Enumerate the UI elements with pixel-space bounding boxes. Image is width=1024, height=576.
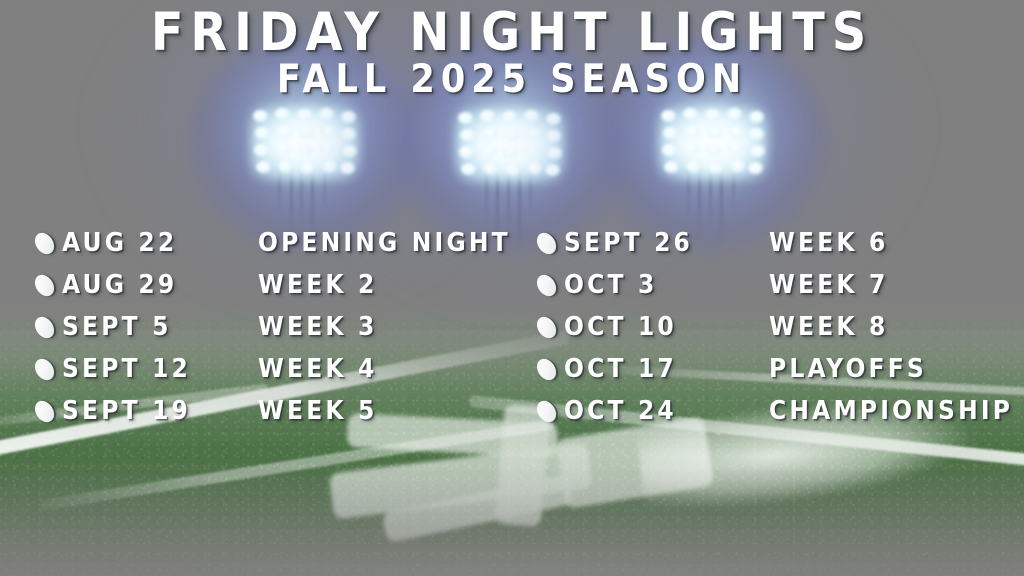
football-icon xyxy=(533,355,560,384)
football-icon xyxy=(533,271,560,300)
football-icon xyxy=(31,271,58,300)
schedule-row[interactable]: SEPT 19 WEEK 5 xyxy=(36,390,511,432)
football-icon xyxy=(31,229,58,258)
schedule-column-left: AUG 22 OPENING NIGHT AUG 29 WEEK 2 SEPT … xyxy=(36,222,511,432)
schedule-label: WEEK 6 xyxy=(769,230,889,256)
schedule-date: AUG 22 xyxy=(62,230,258,256)
schedule-row[interactable]: OCT 24 CHAMPIONSHIP xyxy=(538,390,1013,432)
football-icon xyxy=(533,397,560,426)
schedule-label: WEEK 3 xyxy=(258,314,378,340)
schedule-label: WEEK 5 xyxy=(258,398,378,424)
friday-night-lights-poster: FRIDAY NIGHT LIGHTS FALL 2025 SEASON AUG… xyxy=(0,0,1024,576)
schedule-label: WEEK 7 xyxy=(769,272,889,298)
schedule-row[interactable]: AUG 22 OPENING NIGHT xyxy=(36,222,511,264)
schedule-date: SEPT 19 xyxy=(62,398,258,424)
schedule-date: OCT 10 xyxy=(564,314,769,340)
football-icon xyxy=(31,397,58,426)
schedule-row[interactable]: OCT 17 PLAYOFFS xyxy=(538,348,1013,390)
schedule-date: SEPT 5 xyxy=(62,314,258,340)
bottom-fade xyxy=(0,456,1024,576)
schedule-date: AUG 29 xyxy=(62,272,258,298)
light-bulb-array xyxy=(661,108,765,178)
football-icon xyxy=(31,355,58,384)
schedule-date: SEPT 12 xyxy=(62,356,258,382)
schedule-date: SEPT 26 xyxy=(564,230,769,256)
schedule-row[interactable]: OCT 10 WEEK 8 xyxy=(538,306,1013,348)
schedule-label: WEEK 2 xyxy=(258,272,378,298)
schedule-label: WEEK 4 xyxy=(258,356,378,382)
schedule-date: OCT 17 xyxy=(564,356,769,382)
schedule-date: OCT 24 xyxy=(564,398,769,424)
schedule-label: PLAYOFFS xyxy=(769,356,927,382)
schedule-row[interactable]: AUG 29 WEEK 2 xyxy=(36,264,511,306)
schedule-row[interactable]: OCT 3 WEEK 7 xyxy=(538,264,1013,306)
schedule-row[interactable]: SEPT 5 WEEK 3 xyxy=(36,306,511,348)
football-icon xyxy=(533,313,560,342)
football-icon xyxy=(31,313,58,342)
football-icon xyxy=(533,229,560,258)
schedule-row[interactable]: SEPT 12 WEEK 4 xyxy=(36,348,511,390)
schedule-column-right: SEPT 26 WEEK 6 OCT 3 WEEK 7 OCT 10 WEEK … xyxy=(538,222,1013,432)
page-title: FRIDAY NIGHT LIGHTS xyxy=(0,6,1024,59)
schedule-label: WEEK 8 xyxy=(769,314,889,340)
page-subtitle: FALL 2025 SEASON xyxy=(0,60,1024,99)
schedule-label: CHAMPIONSHIP xyxy=(769,398,1013,424)
schedule-date: OCT 3 xyxy=(564,272,769,298)
schedule-label: OPENING NIGHT xyxy=(258,230,511,256)
schedule-row[interactable]: SEPT 26 WEEK 6 xyxy=(538,222,1013,264)
